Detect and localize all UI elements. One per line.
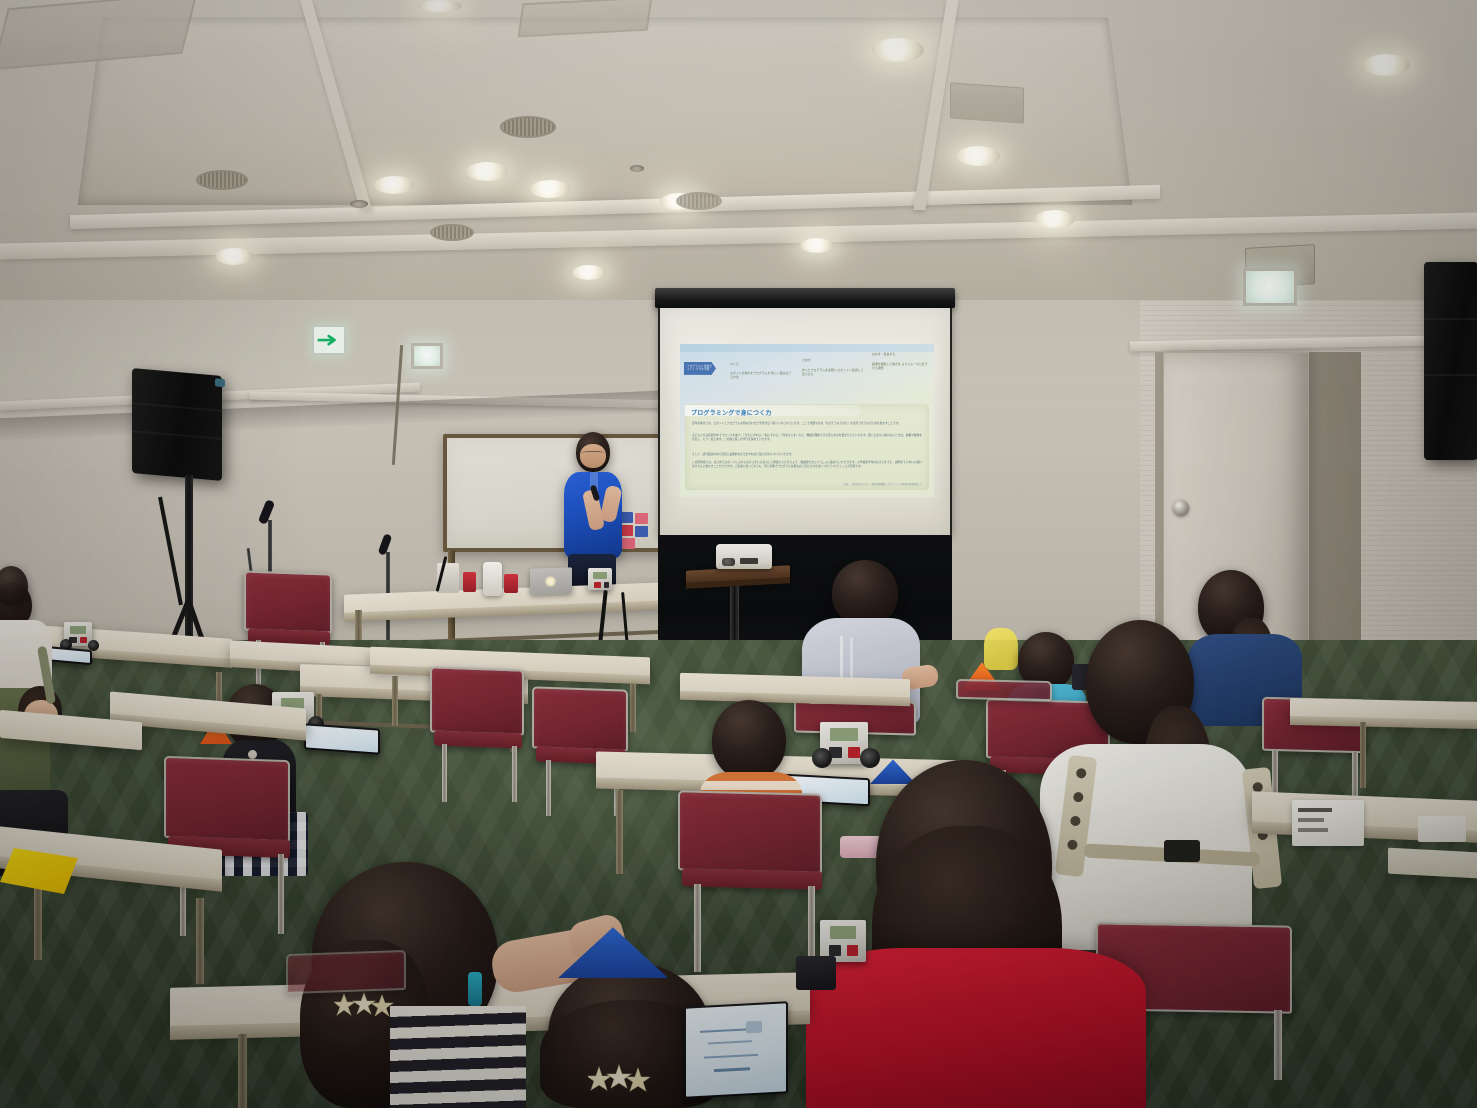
table-leg [392,676,398,726]
yellow-bag [984,628,1018,670]
slide-paragraph: この研修会では、はじめてロボットにふれるお子さまにも安心して参加いただけるよう、… [692,461,922,469]
ceiling-downlight [1035,210,1075,228]
ceiling-speaker-icon [430,224,474,241]
table-leg [196,898,204,984]
presenter [548,432,634,652]
presenter-face [580,444,606,468]
chair-leg [694,884,701,972]
blouse-pleat [850,638,853,682]
ceiling-sensor-icon [630,165,644,172]
red-can [504,574,518,593]
ceiling-downlight [466,162,508,181]
slide-title: プログラミングで身につく力 [691,408,772,417]
ceiling-downlight [1362,54,1410,76]
person-top [806,948,1146,1108]
ceiling-vent [950,82,1024,123]
chair[interactable] [244,570,332,633]
ceiling-downlight [215,248,253,265]
slide-chevron-badge: プログラムの 重要ポイント ３つの手順 [684,362,716,375]
slide-step-3-body: 結果を観察して動きを よりスムーズに近づける調整 [872,362,930,370]
slide-step-2-label: ためす [802,358,860,362]
table [1388,848,1477,879]
chair-leg [1274,1010,1282,1080]
slide-paragraph: 子どもたちは画面の中でブロックを並べ、「まえにすすむ」「右にまわる」「音をならす… [692,434,922,442]
ceiling-speaker-icon [500,116,556,138]
person-head [0,566,28,606]
chair[interactable] [678,790,822,874]
ceiling-downlight [956,146,1000,166]
slide-credit: 出典：一般社団法人ロボット教育推進機構 / プログラミング教育実践事例集より [844,482,922,486]
person-head [712,700,786,780]
speaker-stand-pole [185,475,193,650]
door-handle-icon[interactable] [1173,500,1189,516]
slide-header-band [680,344,934,352]
ceiling-downlight [872,38,924,62]
ceiling-speaker-icon [676,192,722,210]
ceiling-downlight [530,180,570,198]
star-hair-clip [588,1064,650,1092]
table-leg [1360,722,1366,788]
chair-seat[interactable] [682,868,822,889]
projection-screen: プログラムの 重要ポイント ３つの手順 つくる ロボットを動かすプログラムを 新… [658,308,952,535]
strap-buckle-icon [1164,840,1200,862]
wall-lightbox-sign [1243,268,1297,306]
chair-leg [546,760,551,816]
chair[interactable] [286,950,406,994]
slide-paragraph: 近年の教育では、ロボットとプログラムを組み合わせた学習が広く取り入れられています… [692,422,922,426]
table-leg [238,1034,247,1108]
slide-step-1-label: つくる [730,362,788,366]
presentation-slide: プログラムの 重要ポイント ３つの手順 つくる ロボットを動かすプログラムを 新… [680,344,934,497]
wireless-router [483,562,502,596]
white-paper [1418,816,1466,842]
chair[interactable] [532,686,628,751]
chair-leg [442,744,447,802]
ceiling-speaker-icon [196,170,248,190]
tablet[interactable] [684,1001,788,1098]
slide-step-1-body: ロボットを動かすプログラムを 新しく組み立てる方法 [730,371,792,379]
projection-screen-assembly: プログラムの 重要ポイント ３つの手順 つくる ロボットを動かすプログラムを 新… [655,288,955,663]
eyeglasses-icon [581,451,605,456]
table-leg [616,790,623,874]
robot-accessory [796,956,836,990]
robot-wheel [860,748,880,768]
ceiling-downlight [418,0,462,12]
star-hair-clip [334,992,394,1016]
chair[interactable] [164,756,290,842]
screen-housing [655,288,955,308]
chair-leg [512,746,517,802]
ceiling-sensor-icon [350,200,368,208]
slide-paragraph: そして、試行錯誤の中で自然と論理的な考え方やねばり強さが身についていきます。 [692,453,922,457]
ceiling-downlight [374,176,414,194]
ceiling-downlight [800,238,834,253]
striped-top [390,1006,526,1108]
wall-lightbox-sign [411,343,443,369]
projector-lens-icon [722,558,735,566]
ceiling-downlight [572,265,606,280]
shirt-button [248,750,257,759]
red-can [463,572,476,592]
tablet[interactable] [304,723,380,754]
table-leg [630,684,636,732]
white-binder[interactable] [1292,800,1364,846]
chair-leg [278,854,284,934]
chair-seat[interactable] [434,730,522,748]
chair[interactable] [956,679,1052,701]
slide-step-2-body: 作ったプログラムを実際に ロボットへ転送して走らせる [802,368,864,376]
person-head [832,560,898,626]
chair[interactable] [430,666,524,735]
classroom-photo: プログラムの 重要ポイント ３つの手順 つくる ロボットを動かすプログラムを 新… [0,0,1477,1108]
right-pa-speaker [1424,262,1477,460]
exit-sign [312,325,346,355]
robot-wheel [812,748,832,768]
demo-ev3-robot [588,568,612,590]
slide-body-panel: プログラミングで身につく力 近年の教育では、ロボットとプログラムを組み合わせた学… [685,404,929,490]
apple-logo-icon [544,576,557,587]
projector-vent-icon [740,558,758,564]
slide-step-3-label: なおす・改良する [872,352,930,356]
pa-speaker [132,368,222,481]
table-leg [34,880,42,960]
earring [468,972,482,1006]
